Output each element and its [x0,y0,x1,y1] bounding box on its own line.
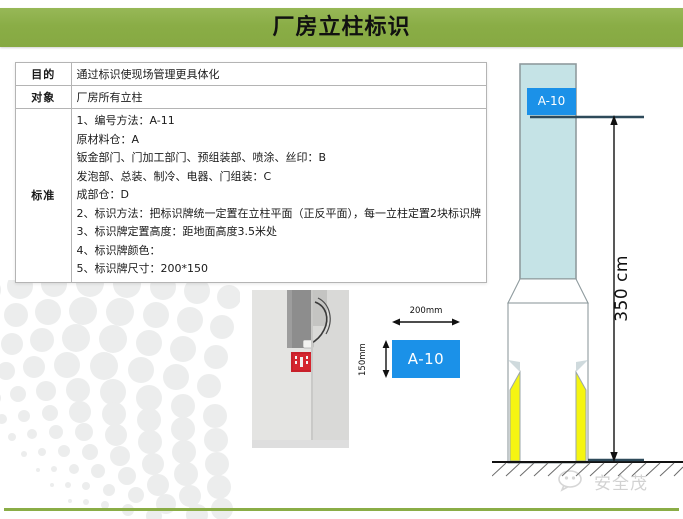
column-sign-code: A-10 [527,88,576,115]
standard-line: 5、标识牌尺寸：200*150 [77,260,482,279]
standard-line: 4、标识牌颜色： [77,242,482,261]
sign-height-label: 150mm [358,344,388,376]
watermark: 安全茂 [558,468,676,494]
standard-line: 1、编号方法：A-11 [77,112,482,131]
standard-line: 钣金部门、门加工部门、预组装部、喷涂、丝印：B [77,149,482,168]
row-value-purpose: 通过标识使现场管理更具体化 [71,63,487,86]
table-row-purpose: 目的 通过标识使现场管理更具体化 [16,63,487,86]
column-height-label: 350 cm [612,255,632,322]
standard-line: 3、标识牌定置高度：距地面高度3.5米处 [77,223,482,242]
factory-column-photo [252,290,349,448]
table-row-standard: 标准 1、编号方法：A-11 原材料仓：A 钣金部门、门加工部门、预组装部、喷涂… [16,109,487,283]
row-label-standard: 标准 [16,109,72,283]
table-row-object: 对象 厂房所有立柱 [16,86,487,109]
footer-rule [4,508,679,511]
sign-sample-code: A-10 [392,340,460,378]
row-value-object: 厂房所有立柱 [71,86,487,109]
row-label-purpose: 目的 [16,63,72,86]
standard-line: 成部仓：D [77,186,482,205]
standard-line: 2、标识方法：把标识牌统一定置在立柱平面（正反平面），每一立柱定置2块标识牌 [77,205,482,224]
standard-line: 发泡部、总装、制冷、电器、门组装：C [77,168,482,187]
watermark-text: 安全茂 [594,469,648,494]
halftone-dots-decoration [0,280,240,519]
column-elevation-diagram [492,60,683,485]
row-value-standard: 1、编号方法：A-11 原材料仓：A 钣金部门、门加工部门、预组装部、喷涂、丝印… [71,109,487,283]
row-label-object: 对象 [16,86,72,109]
standard-line: 原材料仓：A [77,131,482,150]
slide-canvas: 厂房立柱标识 目的 通过标识使现场管理更具体化 对象 厂房所有立柱 标准 1、编… [0,0,683,519]
specification-table: 目的 通过标识使现场管理更具体化 对象 厂房所有立柱 标准 1、编号方法：A-1… [15,62,487,283]
page-title: 厂房立柱标识 [0,8,683,47]
wechat-icon [558,470,590,492]
sign-dimension-sample: 200mm 150mm A-10 [360,300,490,410]
